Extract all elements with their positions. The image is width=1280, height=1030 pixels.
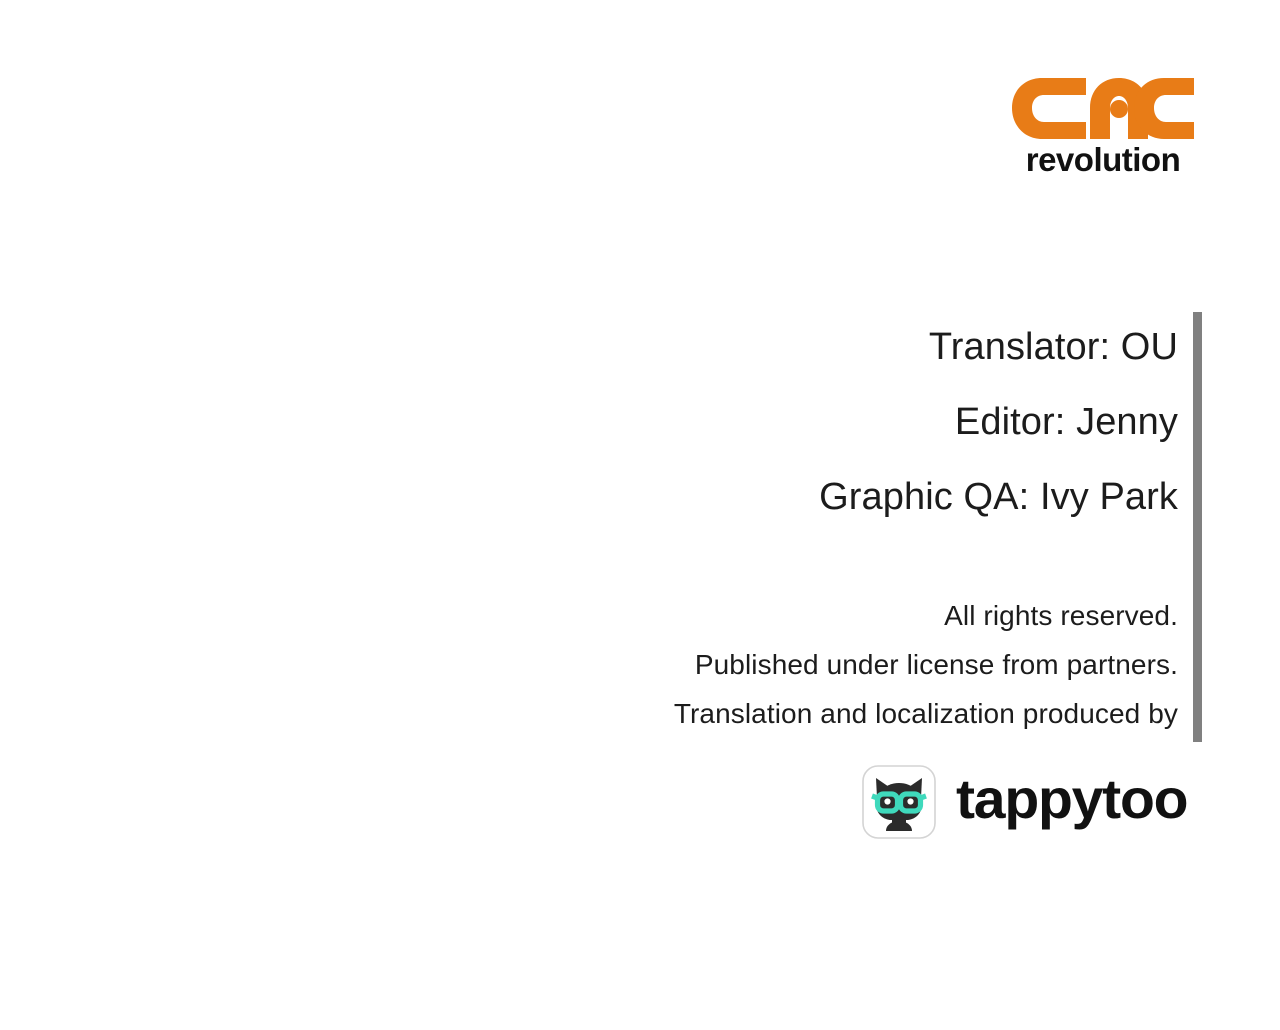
cnc-revolution-text: revolution — [1012, 142, 1194, 178]
vertical-divider-rule — [1193, 312, 1202, 742]
cnc-revolution-logo: revolution — [1012, 78, 1194, 178]
credits-block: Translator: OU Editor: Jenny Graphic QA:… — [478, 310, 1178, 535]
rights-line-license: Published under license from partners. — [418, 640, 1178, 689]
credit-line-graphic-qa: Graphic QA: Ivy Park — [478, 460, 1178, 535]
svg-text:revolution: revolution — [1026, 142, 1181, 178]
cat-with-glasses-icon — [862, 765, 936, 839]
credit-line-translator: Translator: OU — [478, 310, 1178, 385]
credit-line-editor: Editor: Jenny — [478, 385, 1178, 460]
cnc-wordmark-icon — [1012, 78, 1194, 140]
svg-text:tappytoon: tappytoon — [956, 772, 1190, 830]
rights-notice-block: All rights reserved. Published under lic… — [418, 591, 1178, 738]
tappytoon-logo: tappytoon — [862, 762, 1192, 842]
rights-line-all-rights: All rights reserved. — [418, 591, 1178, 640]
tappytoon-wordmark-text: tappytoon — [956, 772, 1190, 832]
rights-line-localization: Translation and localization produced by — [418, 689, 1178, 738]
